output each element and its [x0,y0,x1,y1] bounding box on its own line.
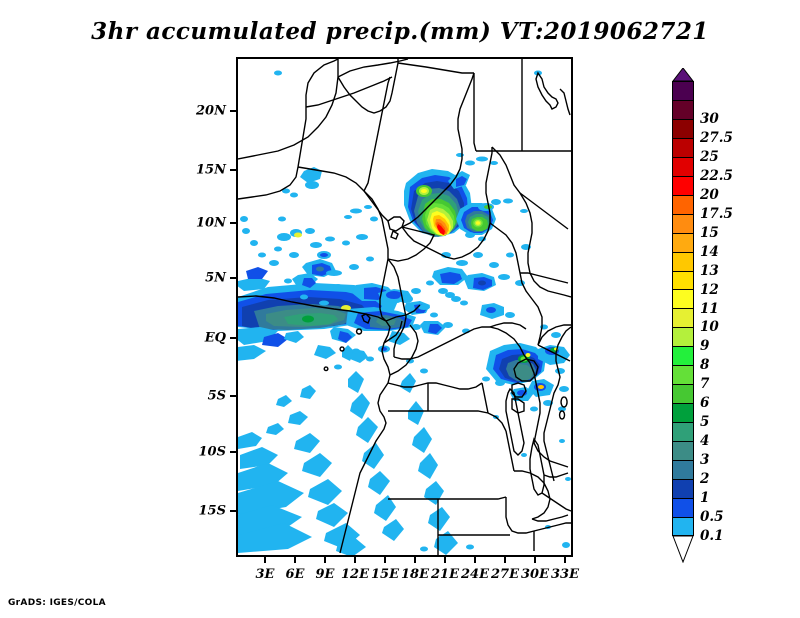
lat-tick-20n [230,110,236,112]
lon-label-6e: 6E [286,567,305,582]
colorbar-cell [672,403,694,422]
grads-plot-page: 3hr accumulated precip.(mm) VT:201906272… [0,0,800,618]
lon-label-15e: 15E [371,567,399,582]
colorbar-tick-label: 9 [700,338,709,354]
lon-tick-6e [294,557,296,563]
colorbar-tick-label: 20 [700,187,719,203]
lat-tick-5n [230,277,236,279]
colorbar-tick-label: 8 [700,357,709,373]
colorbar-tick-label: 10 [700,319,719,335]
lon-label-9e: 9E [316,567,335,582]
colorbar-cell [672,233,694,252]
colorbar-tick-label: 0.5 [700,509,724,525]
colorbar-tick-label: 17.5 [700,206,733,222]
lon-tick-27e [504,557,506,563]
lat-label-eq: EQ [180,331,226,346]
colorbar-cell [672,479,694,498]
lon-label-3e: 3E [256,567,275,582]
colorbar-cell [672,441,694,460]
colorbar-cell [672,138,694,157]
colorbar-tick-label: 30 [700,111,719,127]
colorbar-cell [672,327,694,346]
lon-tick-18e [414,557,416,563]
colorbar-tick-label: 0.1 [700,528,724,544]
colorbar-tick-label: 2 [700,471,709,487]
colorbar-cell [672,422,694,441]
colorbar-cell [672,346,694,365]
lon-label-18e: 18E [401,567,429,582]
colorbar-tick-label: 25 [700,149,719,165]
colorbar-cell [672,498,694,517]
colorbar-cell [672,384,694,403]
colorbar-cell [672,176,694,195]
colorbar-tick-label: 12 [700,282,719,298]
colorbar-tick-label: 14 [700,244,719,260]
colorbar-tick-label: 15 [700,225,719,241]
lon-tick-33e [564,557,566,563]
lat-tick-15n [230,169,236,171]
lon-tick-3e [264,557,266,563]
lon-label-30e: 30E [521,567,549,582]
lon-label-24e: 24E [461,567,489,582]
colorbar-cell [672,214,694,233]
lat-label-20n: 20N [180,104,226,119]
colorbar-cell [672,100,694,119]
colorbar-cell [672,157,694,176]
lon-label-33e: 33E [551,567,579,582]
lat-tick-eq [230,337,236,339]
colorbar-cell [672,81,694,100]
colorbar-tick-label: 4 [700,433,709,449]
lon-label-27e: 27E [491,567,519,582]
lat-label-5n: 5N [180,271,226,286]
colorbar-tick-label: 22.5 [700,168,733,184]
precipitation-map [238,59,571,555]
colorbar-cell [672,119,694,138]
colorbar [672,68,694,563]
colorbar-cell [672,271,694,290]
lat-label-15s: 15S [180,504,226,519]
lon-tick-15e [384,557,386,563]
lat-tick-10n [230,222,236,224]
colorbar-tick-label: 27.5 [700,130,733,146]
colorbar-tick-label: 1 [700,490,709,506]
lon-label-12e: 12E [341,567,369,582]
colorbar-strip [672,81,694,536]
lon-tick-12e [354,557,356,563]
lon-tick-24e [474,557,476,563]
lon-tick-21e [444,557,446,563]
colorbar-top-arrow [672,68,694,82]
colorbar-cell [672,195,694,214]
colorbar-tick-label: 6 [700,395,709,411]
lat-tick-15s [230,510,236,512]
colorbar-tick-label: 5 [700,414,709,430]
colorbar-tick-label: 7 [700,376,709,392]
colorbar-cell [672,252,694,271]
lat-tick-5s [230,395,236,397]
colorbar-tick-label: 13 [700,263,719,279]
lon-tick-30e [534,557,536,563]
lat-label-10s: 10S [180,445,226,460]
grads-attribution: GrADS: IGES/COLA [8,598,106,608]
lat-label-10n: 10N [180,216,226,231]
map-panel [236,57,573,557]
lon-label-21e: 21E [431,567,459,582]
colorbar-bottom-arrow [672,535,694,563]
lat-label-15n: 15N [180,163,226,178]
colorbar-cell [672,460,694,479]
colorbar-cell [672,365,694,384]
lat-label-5s: 5S [180,389,226,404]
colorbar-cell [672,308,694,327]
colorbar-cell [672,289,694,308]
lon-tick-9e [324,557,326,563]
page-title: 3hr accumulated precip.(mm) VT:201906272… [0,18,800,45]
colorbar-tick-label: 3 [700,452,709,468]
colorbar-cell [672,517,694,536]
colorbar-tick-label: 11 [700,301,719,317]
lat-tick-10s [230,451,236,453]
